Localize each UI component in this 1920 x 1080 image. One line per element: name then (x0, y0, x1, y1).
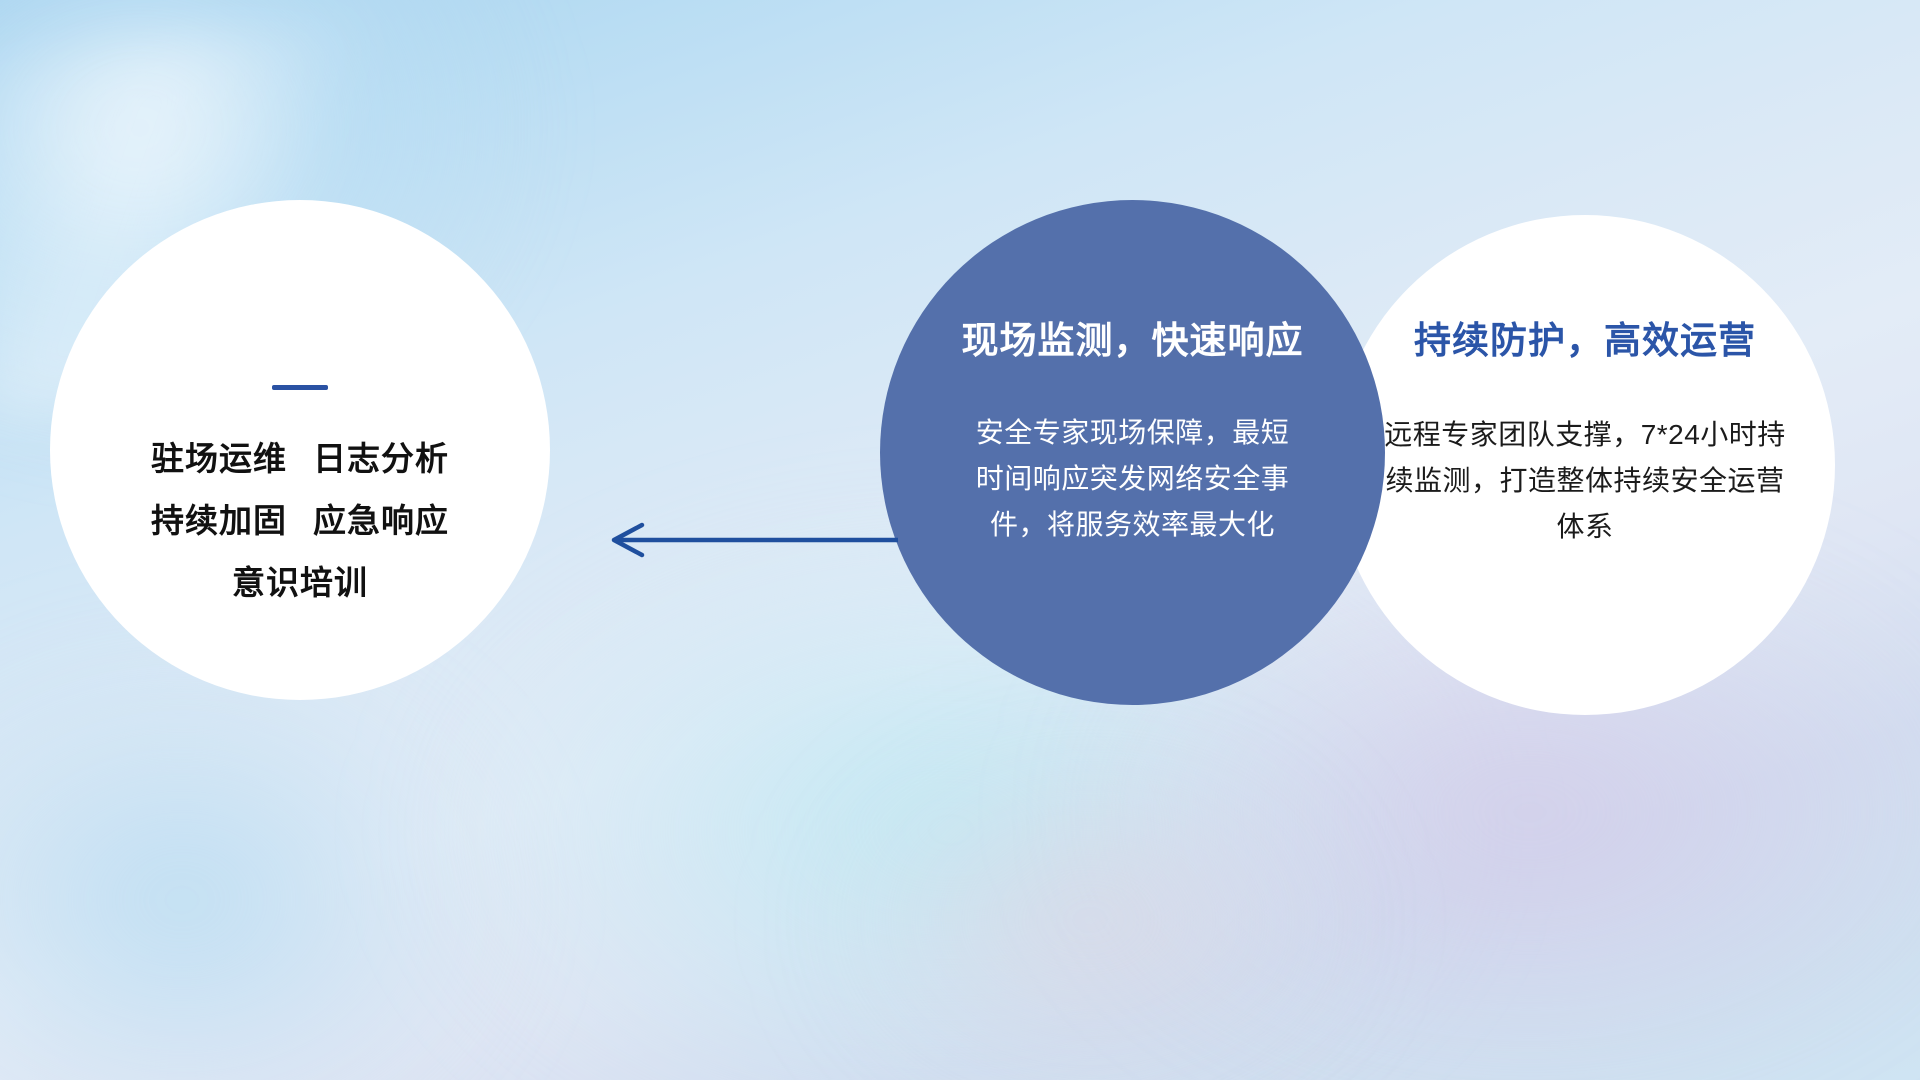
divider-line (272, 385, 328, 390)
keyword-zhuchang-yunwei: 驻场运维 (151, 440, 287, 477)
left-keyword-list: 驻场运维日志分析 持续加固应急响应 意识培训 (85, 428, 515, 614)
left-keyword-circle[interactable]: 驻场运维日志分析 持续加固应急响应 意识培训 (50, 200, 550, 700)
keyword-row-last: 意识培训 (85, 552, 515, 614)
keyword-row: 驻场运维日志分析 (85, 428, 515, 490)
keyword-yishi-peixun: 意识培训 (232, 564, 368, 601)
keyword-row: 持续加固应急响应 (85, 490, 515, 552)
middle-blue-circle[interactable] (880, 200, 1385, 705)
background-glow-pink (820, 740, 1360, 1080)
right-white-circle[interactable] (1335, 215, 1835, 715)
arrow-left-icon (600, 520, 900, 560)
keyword-chixu-jiagu: 持续加固 (151, 502, 287, 539)
keyword-rizhi-fenxi: 日志分析 (313, 440, 449, 477)
keyword-yingji-xiangying: 应急响应 (313, 502, 449, 539)
slide-canvas: 驻场运维日志分析 持续加固应急响应 意识培训 现场监测，快速响应 安全专家现场保… (0, 0, 1920, 1080)
